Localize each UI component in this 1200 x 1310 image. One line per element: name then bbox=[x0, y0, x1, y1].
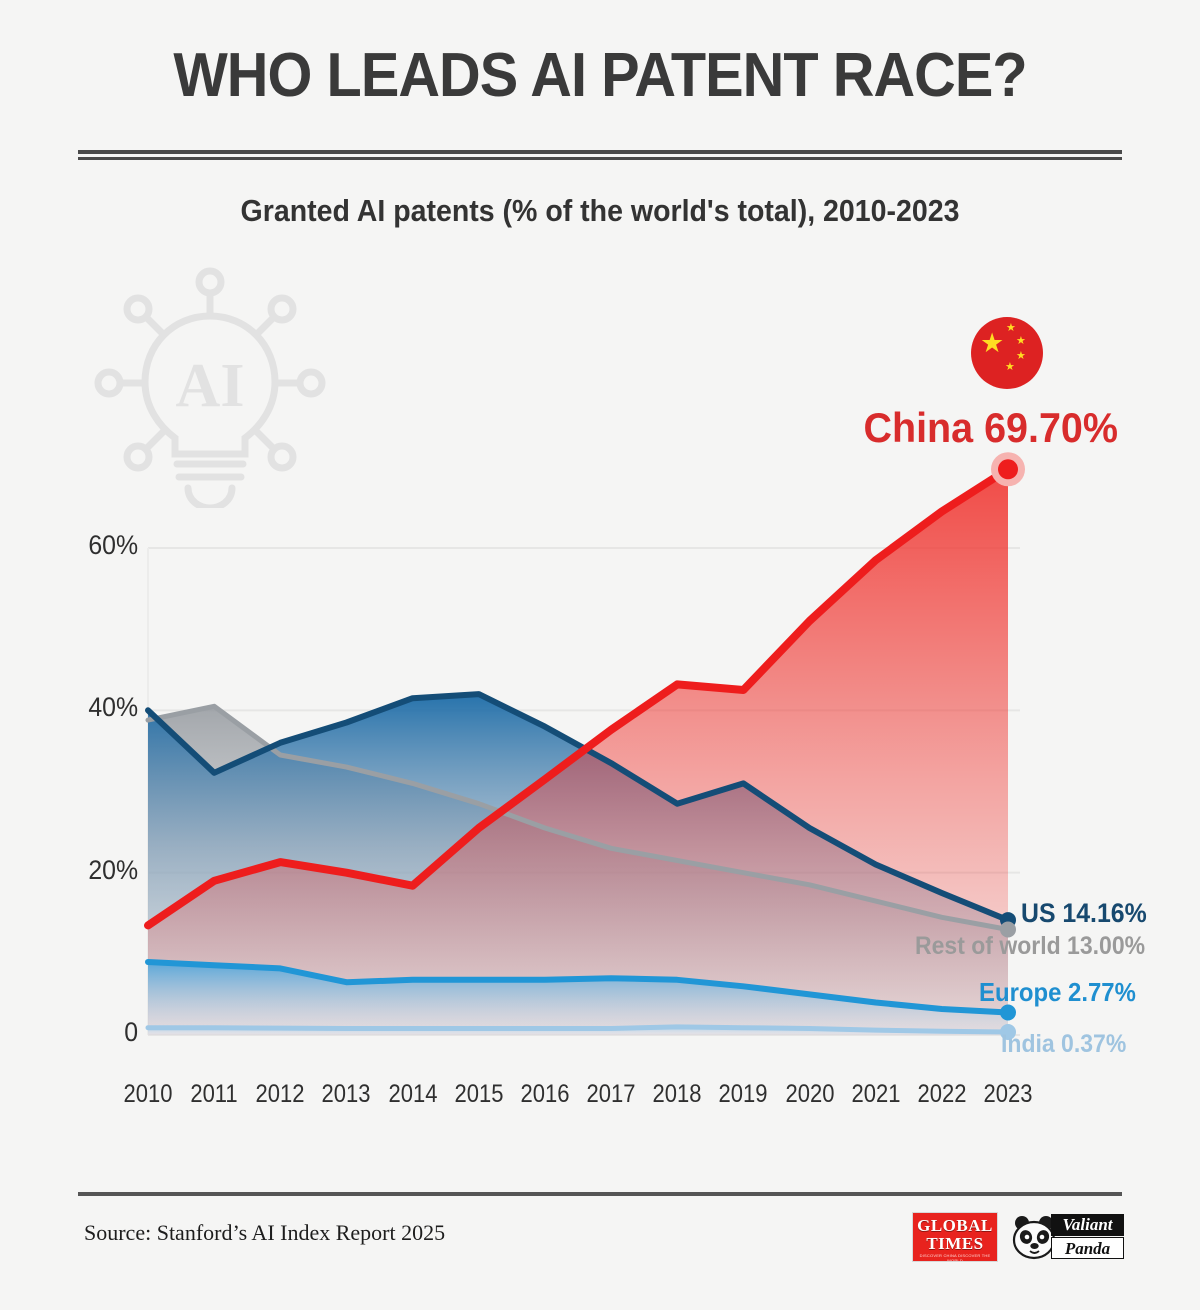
valiant-panda-logo: Valiant Panda bbox=[1009, 1212, 1124, 1262]
series-label-india: India 0.37% bbox=[1001, 1030, 1126, 1059]
global-times-line1: GLOBAL bbox=[913, 1217, 997, 1235]
y-tick-20pct: 20% bbox=[88, 855, 138, 886]
x-tick-2010: 2010 bbox=[113, 1080, 183, 1109]
series-label-us: US 14.16% bbox=[1021, 898, 1147, 929]
flag-star-1: ★ bbox=[1006, 323, 1016, 334]
x-axis: 2010201120122013201420152016201720182019… bbox=[0, 1080, 1200, 1120]
valiant-panda-line1: Valiant bbox=[1051, 1214, 1124, 1236]
flag-star-large: ★ bbox=[980, 330, 1004, 357]
footer-divider bbox=[78, 1192, 1122, 1196]
global-times-tagline: DISCOVER CHINA DISCOVER THE WORLD bbox=[913, 1253, 997, 1262]
x-tick-2015: 2015 bbox=[444, 1080, 514, 1109]
infographic-page: WHO LEADS AI PATENT RACE? Granted AI pat… bbox=[0, 0, 1200, 1310]
x-tick-2023: 2023 bbox=[973, 1080, 1043, 1109]
y-tick-0: 0 bbox=[124, 1017, 138, 1048]
global-times-logo: GLOBAL TIMES DISCOVER CHINA DISCOVER THE… bbox=[912, 1212, 998, 1262]
x-tick-2012: 2012 bbox=[245, 1080, 315, 1109]
x-tick-2011: 2011 bbox=[179, 1080, 249, 1109]
source-text: Source: Stanford’s AI Index Report 2025 bbox=[84, 1220, 445, 1246]
x-tick-2013: 2013 bbox=[311, 1080, 381, 1109]
series-label-europe: Europe 2.77% bbox=[979, 977, 1136, 1008]
series-label-rest-of-world: Rest of world 13.00% bbox=[915, 932, 1145, 961]
x-tick-2020: 2020 bbox=[774, 1080, 844, 1109]
x-tick-2016: 2016 bbox=[510, 1080, 580, 1109]
x-tick-2022: 2022 bbox=[907, 1080, 977, 1109]
x-tick-2021: 2021 bbox=[840, 1080, 910, 1109]
valiant-panda-line2: Panda bbox=[1051, 1237, 1124, 1259]
china-flag-icon: ★ ★ ★ ★ ★ bbox=[971, 317, 1043, 389]
x-tick-2014: 2014 bbox=[377, 1080, 447, 1109]
x-tick-2017: 2017 bbox=[576, 1080, 646, 1109]
global-times-line2: TIMES bbox=[913, 1235, 997, 1252]
y-tick-60pct: 60% bbox=[88, 530, 138, 561]
x-tick-2019: 2019 bbox=[708, 1080, 778, 1109]
logo-group: GLOBAL TIMES DISCOVER CHINA DISCOVER THE… bbox=[912, 1212, 1124, 1264]
marker-china bbox=[998, 459, 1018, 479]
x-tick-2018: 2018 bbox=[642, 1080, 712, 1109]
y-tick-40pct: 40% bbox=[88, 692, 138, 723]
flag-star-4: ★ bbox=[1005, 362, 1015, 373]
flag-star-3: ★ bbox=[1016, 351, 1026, 362]
china-value-label: China 69.70% bbox=[631, 404, 1118, 452]
flag-star-2: ★ bbox=[1016, 336, 1026, 347]
